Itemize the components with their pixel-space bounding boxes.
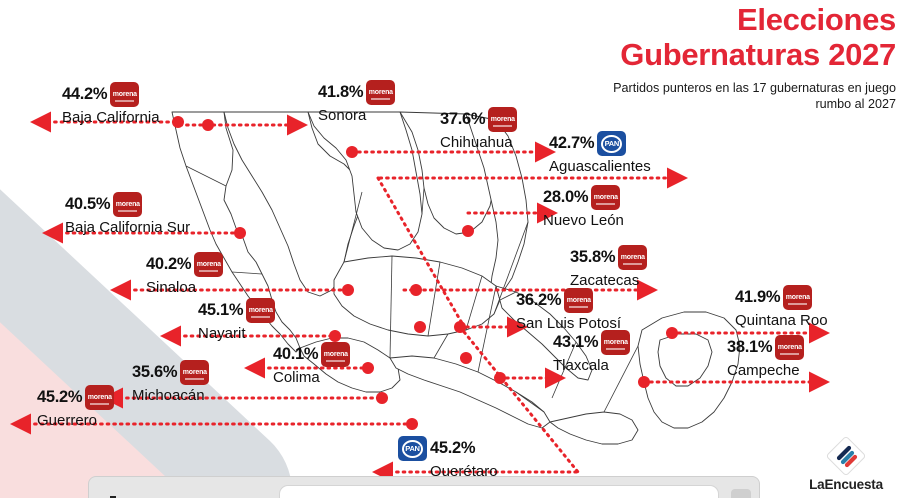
value-san-luis-potosi: 36.2% (516, 292, 561, 309)
state-zacatecas: Zacatecas (570, 273, 647, 288)
send-button[interactable] (731, 489, 751, 498)
pan-logo-icon: PAN (398, 436, 427, 461)
state-nayarit: Nayarit (198, 326, 275, 341)
state-quintana-roo: Quintana Roo (735, 313, 828, 328)
message-input[interactable] (279, 485, 719, 498)
state-aguascalientes: Aguascalientes (549, 159, 651, 174)
state-baja-california: Baja California (62, 110, 160, 125)
morena-logo-icon: morena (246, 298, 275, 323)
value-quintana-roo: 41.9% (735, 289, 780, 306)
value-baja-california: 44.2% (62, 86, 107, 103)
value-colima: 40.1% (273, 346, 318, 363)
callout-san-luis-potosi[interactable]: 36.2% morena San Luis Potosí (516, 288, 621, 331)
morena-logo-icon: morena (194, 252, 223, 277)
callout-chihuahua[interactable]: 37.6% morena Chihuahua (440, 107, 517, 150)
value-queretaro: 45.2% (430, 440, 475, 457)
state-baja-california-sur: Baja California Sur (65, 220, 190, 235)
morena-logo-icon: morena (366, 80, 395, 105)
value-aguascalientes: 42.7% (549, 135, 594, 152)
callout-nayarit[interactable]: 45.1% morena Nayarit (198, 298, 275, 341)
page-subtitle: Partidos punteros en las 17 gubernaturas… (584, 81, 896, 112)
morena-logo-icon: morena (113, 192, 142, 217)
title-line-2: Gubernaturas 2027 (584, 37, 896, 72)
value-tlaxcala: 43.1% (553, 334, 598, 351)
morena-logo-icon: morena (180, 360, 209, 385)
value-guerrero: 45.2% (37, 389, 82, 406)
header: Elecciones Gubernaturas 2027 Partidos pu… (584, 2, 896, 112)
state-colima: Colima (273, 370, 350, 385)
state-sonora: Sonora (318, 108, 395, 123)
callout-baja-california-sur[interactable]: 40.5% morena Baja California Sur (65, 192, 190, 235)
morena-logo-icon: morena (85, 385, 114, 410)
value-michoacan: 35.6% (132, 364, 177, 381)
callout-sinaloa[interactable]: 40.2% morena Sinaloa (146, 252, 223, 295)
value-campeche: 38.1% (727, 339, 772, 356)
morena-logo-icon: morena (564, 288, 593, 313)
morena-logo-icon: morena (321, 342, 350, 367)
callout-tlaxcala[interactable]: 43.1% morena Tlaxcala (553, 330, 630, 373)
callout-zacatecas[interactable]: 35.8% morena Zacatecas (570, 245, 647, 288)
value-nayarit: 45.1% (198, 302, 243, 319)
value-sinaloa: 40.2% (146, 256, 191, 273)
morena-logo-icon: morena (591, 185, 620, 210)
infographic-canvas: Elecciones Gubernaturas 2027 Partidos pu… (0, 0, 902, 498)
callout-nuevo-leon[interactable]: 28.0% morena Nuevo León (543, 185, 624, 228)
brand-logo: LaEncuesta (800, 436, 892, 492)
state-tlaxcala: Tlaxcala (553, 358, 630, 373)
title-line-1: Elecciones (584, 2, 896, 37)
state-sinaloa: Sinaloa (146, 280, 223, 295)
callout-baja-california[interactable]: 44.2% morena Baja California (62, 82, 160, 125)
callout-michoacan[interactable]: 35.6% morena Michoacán (132, 360, 209, 403)
bottom-toolbar (88, 476, 760, 498)
callout-colima[interactable]: 40.1% morena Colima (273, 342, 350, 385)
callout-quintana-roo[interactable]: 41.9% morena Quintana Roo (735, 285, 828, 328)
morena-logo-icon: morena (110, 82, 139, 107)
callout-campeche[interactable]: 38.1% morena Campeche (727, 335, 804, 378)
callout-sonora[interactable]: 41.8% morena Sonora (318, 80, 395, 123)
morena-logo-icon: morena (488, 107, 517, 132)
page-title: Elecciones Gubernaturas 2027 (584, 2, 896, 72)
attachment-icon[interactable] (105, 489, 121, 498)
value-nuevo-leon: 28.0% (543, 189, 588, 206)
morena-logo-icon: morena (601, 330, 630, 355)
brand-name: LaEncuesta (800, 477, 892, 492)
value-baja-california-sur: 40.5% (65, 196, 110, 213)
state-guerrero: Guerrero (37, 413, 114, 428)
morena-logo-icon: morena (783, 285, 812, 310)
value-zacatecas: 35.8% (570, 249, 615, 266)
pan-logo-icon: PAN (597, 131, 626, 156)
morena-logo-icon: morena (775, 335, 804, 360)
state-michoacan: Michoacán (132, 388, 209, 403)
callout-aguascalientes[interactable]: 42.7% PAN Aguascalientes (549, 131, 651, 174)
callout-guerrero[interactable]: 45.2% morena Guerrero (37, 385, 114, 428)
callout-queretaro[interactable]: PAN 45.2% Querétaro (398, 436, 498, 479)
laencuesta-mark-icon (826, 436, 866, 476)
value-sonora: 41.8% (318, 84, 363, 101)
state-chihuahua: Chihuahua (440, 135, 517, 150)
value-chihuahua: 37.6% (440, 111, 485, 128)
state-san-luis-potosi: San Luis Potosí (516, 316, 621, 331)
morena-logo-icon: morena (618, 245, 647, 270)
state-nuevo-leon: Nuevo León (543, 213, 624, 228)
state-campeche: Campeche (727, 363, 804, 378)
